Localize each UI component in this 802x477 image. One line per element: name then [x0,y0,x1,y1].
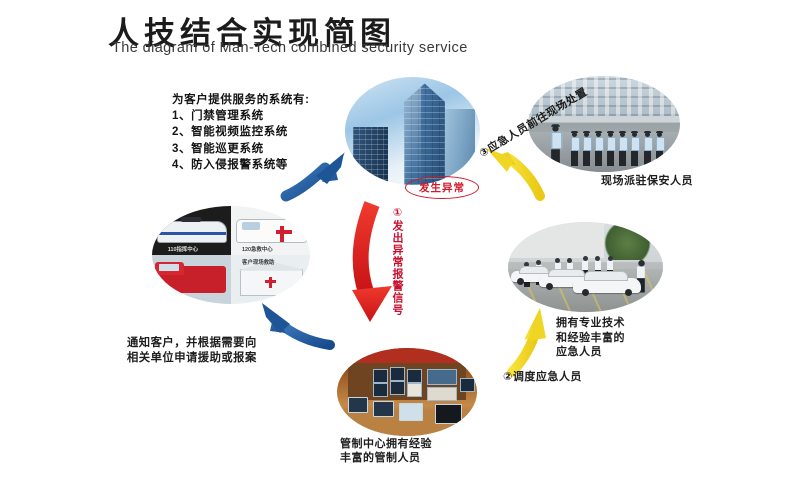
arrow-notify-external [262,303,330,345]
annotation-step1: ①发出异常报警信号 [390,206,403,316]
label-ambulance-center: 120急救中心 [242,245,273,253]
annotation-step2: ②调度应急人员 [503,368,582,384]
caption-emergency-response-team: 拥有专业技术 和经验丰富的 应急人员 [556,316,625,360]
caption-external-assistance: 通知客户，并根据需要向 相关单位申请援助或报案 [127,336,257,366]
label-client-site-aid: 客户现场救助 [242,258,274,266]
arrow-alarm-signal [352,204,392,322]
caption-control-center: 管制中心拥有经验 丰富的管制人员 [340,437,432,465]
abnormal-badge: 发生异常 [405,176,479,199]
systems-list: 为客户提供服务的系统有: 1、门禁管理系统 2、智能视频监控系统 3、智能巡更系… [172,92,310,173]
photo-protected-premises [345,77,480,185]
caption-on-site-guards: 现场派驻保安人员 [601,172,693,188]
abnormal-badge-label: 发生异常 [419,180,465,195]
diagram-canvas: 人技结合实现简图 The diagram of Man-Tech combine… [0,0,802,477]
arrow-dispatch-team [512,308,546,372]
page-title-en: The diagram of Man-Tech combined securit… [112,40,468,56]
photo-emergency-response-team [508,222,663,312]
photo-on-site-guards [528,76,680,172]
photo-external-assistance: 110指挥中心 120急救中心 客户现场救助 [152,206,310,304]
label-police-center: 110指挥中心 [168,245,198,253]
photo-control-center [337,348,477,436]
